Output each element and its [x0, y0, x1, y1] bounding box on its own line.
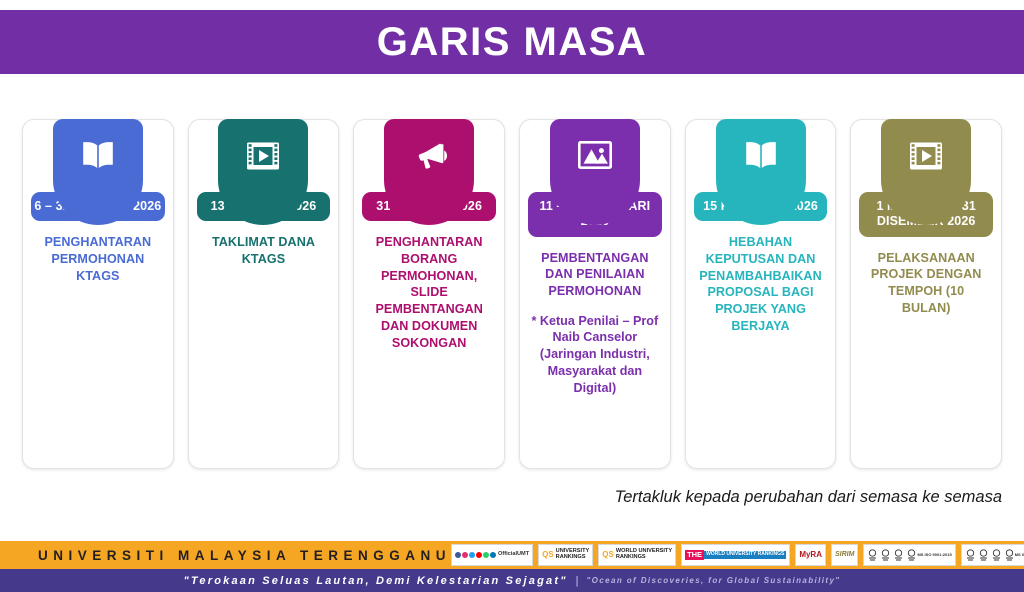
timeline-card-3: 31 JANUARI 2026PENGHANTARAN BORANG PERMO…: [353, 74, 505, 469]
timeline-container: 6 – 31 JANUARI 2026PENGHANTARAN PERMOHON…: [0, 74, 1024, 484]
page-title: GARIS MASA: [377, 22, 648, 62]
film-play-icon: [246, 141, 280, 171]
footer-badge-label: SIRIM: [835, 551, 854, 558]
timeline-card-title: PELAKSANAAN PROJEK DENGAN TEMPOH (10 BUL…: [859, 250, 993, 317]
footer-badge-myra: MyRA: [795, 544, 826, 566]
social-dot-icon: [483, 552, 489, 558]
footer-purple-bar: "Terokaan Seluas Lautan, Demi Kelestaria…: [0, 569, 1024, 592]
timeline-card-title: HEBAHAN KEPUTUSAN DAN PENAMBAHBAIKAN PRO…: [694, 234, 828, 334]
certification-icons: [965, 549, 1015, 562]
footer-university-name: UNIVERSITI MALAYSIA TERENGGANU: [0, 548, 451, 563]
open-book-icon: [744, 141, 778, 171]
film-play-icon: [909, 141, 943, 171]
footer-tagline-english: "Ocean of Discoveries, for Global Sustai…: [586, 576, 840, 585]
certification-mark-icon: [965, 549, 976, 562]
timeline-icon-badge: [881, 119, 971, 225]
qs-logo-icon: QS: [602, 551, 614, 559]
footer-badge-qs: QSUNIVERSITYRANKINGS: [538, 544, 593, 566]
page-title-bar: GARIS MASA: [0, 10, 1024, 74]
footer-badge-label: MS ISO 14001:2015: [1015, 553, 1024, 557]
footer-badge-iso: SIRIM: [831, 544, 858, 566]
footer-badge-cert: MS ISO 14001:2015: [961, 544, 1024, 566]
footer-badge-text: WORLD UNIVERSITYRANKINGS: [616, 549, 672, 561]
timeline-card-title: PENGHANTARAN PERMOHONAN KTAGS: [31, 234, 165, 284]
timeline-icon-badge: [716, 119, 806, 225]
certification-mark-icon: [906, 549, 917, 562]
footer-badge-line2: WORLD UNIVERSITY RANKINGS: [704, 551, 786, 558]
footer-tagline-malay: "Terokaan Seluas Lautan, Demi Kelestaria…: [184, 575, 568, 587]
footer-badge-the: THEWORLD UNIVERSITY RANKINGS: [681, 544, 790, 566]
open-book-icon: [81, 141, 115, 171]
footer-badge-row: OfficialUMTQSUNIVERSITYRANKINGSQSWORLD U…: [451, 544, 1024, 566]
certification-mark-icon: [991, 549, 1002, 562]
certification-icons: [867, 549, 917, 562]
footer-badge-line2: RANKINGS: [616, 555, 672, 561]
footer-badge-label: MS ISO 9001:2015: [917, 553, 951, 557]
timeline-card-title: TAKLIMAT DANA KTAGS: [197, 234, 331, 267]
timeline-card-1: 6 – 31 JANUARI 2026PENGHANTARAN PERMOHON…: [22, 74, 174, 469]
certification-mark-icon: [978, 549, 989, 562]
footer-badge-line1: THE: [685, 550, 704, 560]
timeline-card-note: * Ketua Penilai – Prof Naib Canselor (Ja…: [528, 313, 662, 397]
timeline-icon-badge: [53, 119, 143, 225]
timeline-icon-badge: [384, 119, 474, 225]
footer-badge-line2: RANKINGS: [556, 555, 590, 561]
image-icon: [578, 141, 612, 169]
megaphone-icon: [411, 141, 447, 171]
social-dot-icon: [455, 552, 461, 558]
timeline-card-4: 11 – 12 FEBRUARI 2026PEMBENTANGAN DAN PE…: [519, 74, 671, 469]
certification-mark-icon: [1004, 549, 1015, 562]
footer-badge-cert: MS ISO 9001:2015: [863, 544, 955, 566]
timeline-card-title: PEMBENTANGAN DAN PENILAIAN PERMOHONAN: [528, 250, 662, 300]
qs-logo-icon: QS: [542, 551, 554, 559]
timeline-card-6: 1 MAC 2026 – 31 DISEMBER 2026PELAKSANAAN…: [850, 74, 1002, 469]
certification-mark-icon: [867, 549, 878, 562]
footer-badge-label: MyRA: [799, 551, 822, 559]
timeline-icon-badge: [218, 119, 308, 225]
timeline-card-title: PENGHANTARAN BORANG PERMOHONAN, SLIDE PE…: [362, 234, 496, 351]
footer-badge-social: OfficialUMT: [451, 544, 533, 566]
footer-badge-label: OfficialUMT: [498, 552, 529, 558]
social-dot-icon: [476, 552, 482, 558]
footer-badge-qs: QSWORLD UNIVERSITYRANKINGS: [598, 544, 676, 566]
footer-badge-text: UNIVERSITYRANKINGS: [556, 549, 590, 561]
timeline-icon-badge: [550, 119, 640, 225]
social-icons: [455, 552, 496, 558]
social-dot-icon: [490, 552, 496, 558]
certification-mark-icon: [880, 549, 891, 562]
footer-orange-bar: UNIVERSITI MALAYSIA TERENGGANU OfficialU…: [0, 541, 1024, 569]
certification-mark-icon: [893, 549, 904, 562]
timeline-card-5: 15 FEBRUARI 2026HEBAHAN KEPUTUSAN DAN PE…: [685, 74, 837, 469]
footer-tagline-separator: |: [576, 575, 579, 587]
social-dot-icon: [462, 552, 468, 558]
disclaimer-text: Tertakluk kepada perubahan dari semasa k…: [615, 488, 1002, 507]
timeline-card-2: 13 JANUARI 2026TAKLIMAT DANA KTAGS: [188, 74, 340, 469]
social-dot-icon: [469, 552, 475, 558]
